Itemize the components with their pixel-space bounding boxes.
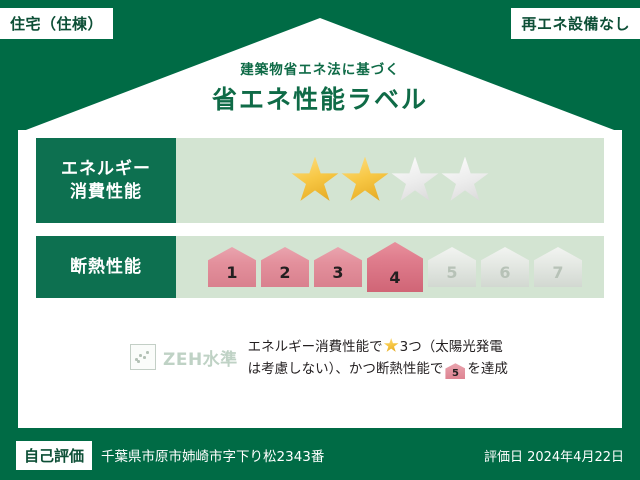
zeh-description-part4: を達成 (467, 361, 508, 377)
insulation-chip-3: 3 (314, 247, 362, 287)
star-icon-3 (391, 157, 439, 205)
insulation-chip-6: 6 (481, 247, 529, 287)
tag-renewable-energy: 再エネ設備なし (511, 8, 640, 39)
energy-performance-label: 住宅（住棟） 再エネ設備なし 建築物省エネ法に基づく 省エネ性能ラベル エネルギ… (0, 0, 640, 480)
row-energy-header-line2: 消費性能 (70, 181, 142, 204)
row-insulation-header-line1: 断熱性能 (70, 256, 142, 279)
evaluation-date: 評価日 2024年4月22日 (484, 446, 624, 465)
star-rating (176, 138, 604, 223)
star-icon-inline (384, 338, 399, 353)
zeh-description-part2: 3つ（太陽光発電 (400, 339, 503, 355)
footer-bar: 自己評価 千葉県市原市姉崎市字下り松2343番 評価日 2024年4月22日 (0, 430, 640, 480)
star-icon-4 (441, 157, 489, 205)
star-icon-2 (341, 157, 389, 205)
insulation-level-scale: 1 2 3 4 5 6 7 (176, 236, 604, 298)
row-insulation-performance: 断熱性能 1 2 3 4 5 (36, 236, 604, 298)
zeh-description: エネルギー消費性能で3つ（太陽光発電 は考慮しない）、かつ断熱性能で5を達成 (248, 336, 508, 381)
zeh-description-part3: は考慮しない）、かつ断熱性能で (248, 361, 444, 377)
zeh-label: ZEH水準 (163, 345, 238, 370)
tag-building-type: 住宅（住棟） (0, 8, 113, 39)
property-address: 千葉県市原市姉崎市字下り松2343番 (101, 445, 324, 465)
row-energy-header: エネルギー 消費性能 (36, 138, 176, 223)
insulation-chip-4-current: 4 (367, 242, 423, 292)
zeh-note: ZEH水準 エネルギー消費性能で3つ（太陽光発電 は考慮しない）、かつ断熱性能で… (130, 336, 508, 381)
insulation-chip-1: 1 (208, 247, 256, 287)
chart-square-icon (130, 344, 156, 370)
star-icon-1 (291, 157, 339, 205)
house-icon-inline: 5 (445, 363, 465, 379)
insulation-chip-2: 2 (261, 247, 309, 287)
row-energy-header-line1: エネルギー (61, 158, 151, 181)
row-insulation-header: 断熱性能 (36, 236, 176, 298)
insulation-chip-5: 5 (428, 247, 476, 287)
zeh-description-part1: エネルギー消費性能で (248, 339, 383, 355)
page-title: 省エネ性能ラベル (0, 80, 640, 116)
row-energy-performance: エネルギー 消費性能 (36, 138, 604, 223)
status-badge-self-evaluation: 自己評価 (16, 441, 92, 470)
title-subtitle: 建築物省エネ法に基づく (0, 58, 640, 78)
insulation-chip-7: 7 (534, 247, 582, 287)
zeh-badge: ZEH水準 (130, 336, 238, 370)
